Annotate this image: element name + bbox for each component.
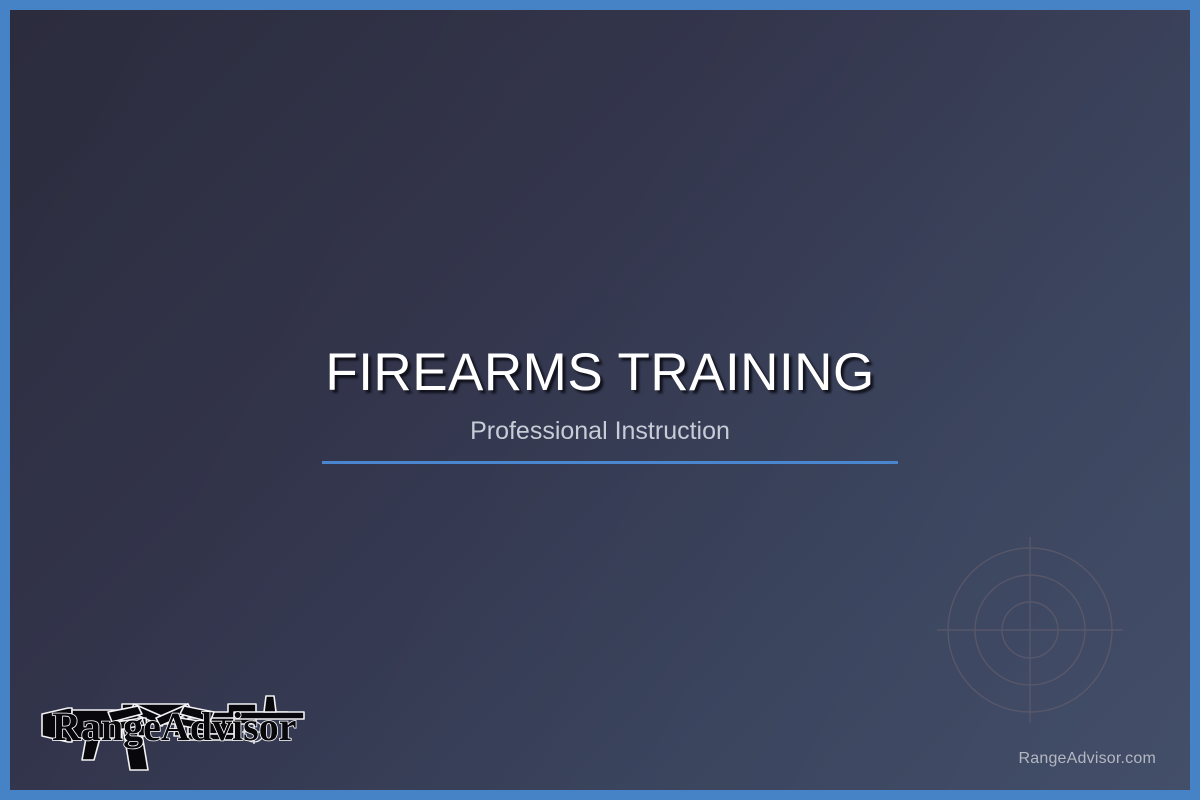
accent-divider [322,461,898,464]
presentation-slide: FIREARMS TRAINING Professional Instructi… [0,0,1200,800]
rifle-silhouette-icon: .sil { fill:#07070c; stroke:#f2f2f5; str… [38,678,316,774]
page-title: FIREARMS TRAINING [10,346,1190,399]
page-subtitle: Professional Instruction [10,399,1190,444]
footer-website-url: RangeAdvisor.com [1019,750,1157,768]
title-block: FIREARMS TRAINING Professional Instructi… [10,346,1190,444]
brand-wordmark: RangeAdvisor [52,704,296,749]
target-crosshair-icon [920,520,1140,740]
